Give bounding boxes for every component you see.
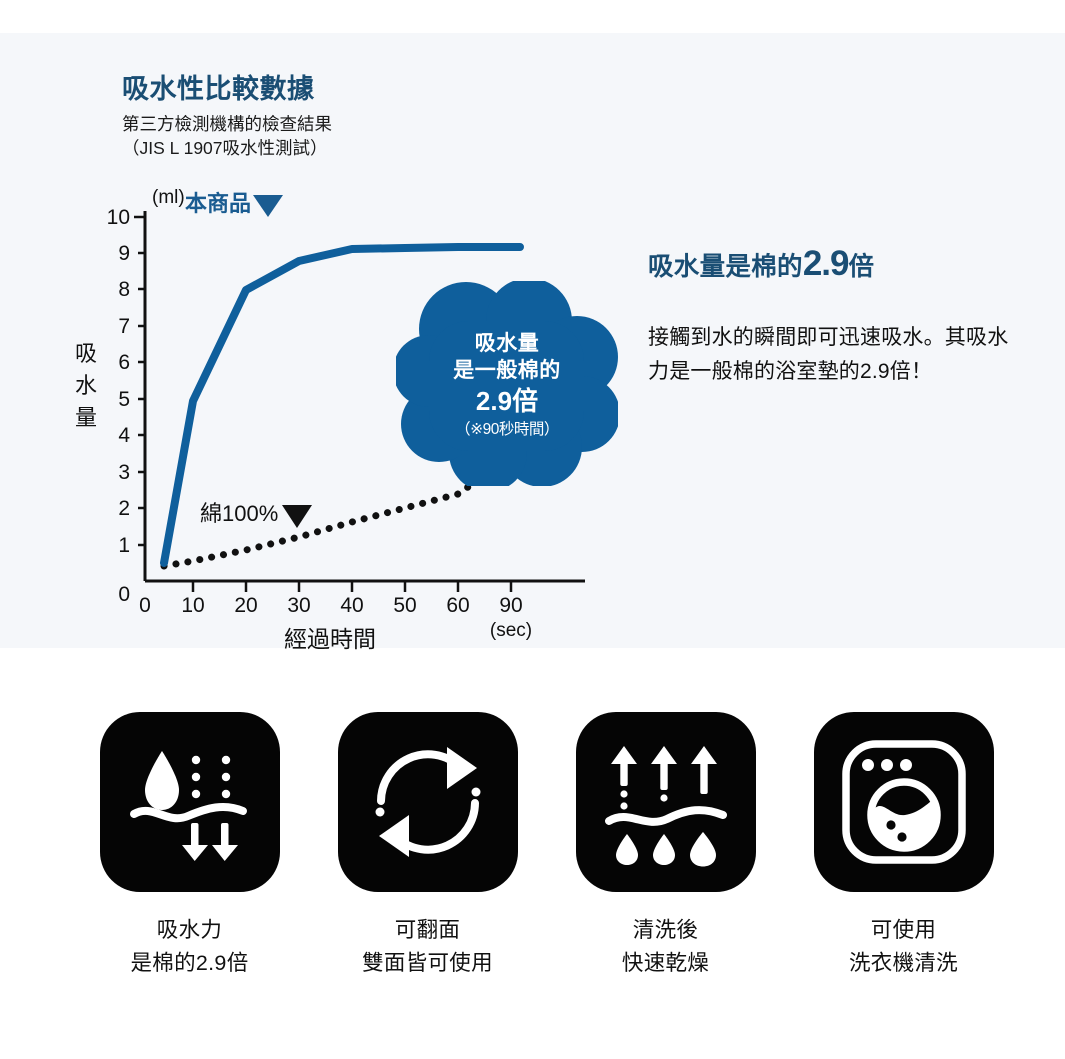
list-item: 可翻面 雙面皆可使用 (338, 712, 518, 1022)
feature-list: 吸水力 是棉的2.9倍 可翻面 雙面皆可使用 (0, 712, 1065, 1022)
page-title: 吸水性比較數據 (122, 73, 642, 105)
feature-label-line1: 吸水力 (131, 914, 249, 947)
svg-text:10: 10 (107, 206, 130, 229)
svg-text:5: 5 (118, 388, 130, 411)
summary-heading-number: 2.9 (803, 244, 849, 283)
callout-note: （※90秒時間） (455, 420, 559, 440)
svg-text:吸: 吸 (75, 341, 97, 366)
list-item: 可使用 洗衣機清洗 (814, 712, 994, 1022)
svg-text:30: 30 (287, 594, 310, 617)
x-axis-unit-label: (sec) (490, 620, 532, 641)
panel-subtitle-line1: 第三方檢測機構的檢查結果 (122, 113, 642, 137)
svg-text:水: 水 (75, 373, 97, 398)
svg-text:10: 10 (181, 594, 204, 617)
svg-text:2: 2 (118, 497, 130, 520)
svg-text:8: 8 (118, 278, 130, 301)
summary-heading-post: 倍 (848, 253, 874, 281)
water-absorption-icon (100, 712, 280, 892)
svg-text:3: 3 (118, 461, 130, 484)
feature-label-line2: 快速乾燥 (622, 947, 709, 980)
svg-text:量: 量 (75, 405, 97, 430)
quick-dry-icon (576, 712, 756, 892)
absorbency-chart-panel: 吸水性比較數據 第三方檢測機構的檢查結果 （JIS L 1907吸水性測試） (0, 33, 1065, 648)
svg-text:7: 7 (118, 315, 130, 338)
list-item: 清洗後 快速乾燥 (576, 712, 756, 1022)
y-axis-title: 吸 水 量 (75, 341, 97, 430)
svg-text:1: 1 (118, 534, 130, 557)
reversible-arrows-glyph (365, 739, 491, 865)
svg-text:0: 0 (139, 594, 151, 617)
feature-label-line1: 可使用 (849, 914, 958, 947)
svg-text:40: 40 (340, 594, 363, 617)
callout-ratio-value: 2.9倍 (476, 385, 538, 418)
series-product-label: 本商品 (185, 191, 283, 217)
feature-labels: 可翻面 雙面皆可使用 (362, 914, 493, 981)
panel-subtitle-line2: （JIS L 1907吸水性測試） (122, 137, 642, 161)
series-cotton-label: 綿100% (200, 501, 312, 528)
callout-text-group: 吸水量 是一般棉的 2.9倍 （※90秒時間） (396, 281, 618, 486)
svg-text:9: 9 (118, 242, 130, 265)
quick-dry-glyph (601, 737, 731, 867)
feature-labels: 可使用 洗衣機清洗 (849, 914, 958, 981)
svg-text:綿100%: 綿100% (200, 501, 278, 526)
status-badge: 吸水量 是一般棉的 2.9倍 （※90秒時間） (396, 281, 618, 486)
washing-machine-icon (814, 712, 994, 892)
y-axis-unit-label: (ml) (152, 187, 185, 208)
y-axis-tick-labels: 10 9 8 7 6 5 4 3 2 1 0 (107, 206, 131, 606)
panel-subtitle: 第三方檢測機構的檢查結果 （JIS L 1907吸水性測試） (122, 113, 642, 160)
callout-line-2: 是一般棉的 (453, 358, 561, 385)
svg-text:60: 60 (446, 594, 469, 617)
feature-label-line2: 雙面皆可使用 (362, 947, 493, 980)
callout-line-1: 吸水量 (475, 331, 540, 358)
feature-label-line1: 可翻面 (362, 914, 493, 947)
svg-text:50: 50 (393, 594, 416, 617)
list-item: 吸水力 是棉的2.9倍 (100, 712, 280, 1022)
svg-text:20: 20 (234, 594, 257, 617)
summary-heading: 吸水量是棉的2.9倍 (648, 243, 1020, 285)
reversible-arrows-icon (338, 712, 518, 892)
feature-labels: 清洗後 快速乾燥 (622, 914, 709, 981)
water-absorption-glyph (125, 737, 255, 867)
x-axis-title: 經過時間 (284, 626, 376, 651)
washing-machine-glyph (839, 737, 969, 867)
svg-text:本商品: 本商品 (185, 191, 251, 216)
x-axis-tick-labels: 0 10 20 30 40 50 60 90 (139, 594, 523, 617)
feature-labels: 吸水力 是棉的2.9倍 (131, 914, 249, 981)
summary-body-text: 接觸到水的瞬間即可迅速吸水。其吸水力是一般棉的浴室墊的2.9倍！ (648, 321, 1020, 389)
feature-label-line2: 洗衣機清洗 (849, 947, 958, 980)
svg-text:0: 0 (118, 583, 130, 606)
y-axis-ticks (134, 217, 145, 545)
svg-text:4: 4 (118, 424, 130, 447)
feature-label-line2: 是棉的2.9倍 (131, 947, 249, 980)
summary-heading-pre: 吸水量是棉的 (648, 253, 803, 281)
svg-text:90: 90 (499, 594, 522, 617)
x-axis-ticks (193, 581, 511, 592)
panel-heading-block: 吸水性比較數據 第三方檢測機構的檢查結果 （JIS L 1907吸水性測試） (122, 73, 642, 161)
summary-column: 吸水量是棉的2.9倍 接觸到水的瞬間即可迅速吸水。其吸水力是一般棉的浴室墊的2.… (648, 243, 1020, 389)
feature-label-line1: 清洗後 (622, 914, 709, 947)
svg-text:6: 6 (118, 351, 130, 374)
